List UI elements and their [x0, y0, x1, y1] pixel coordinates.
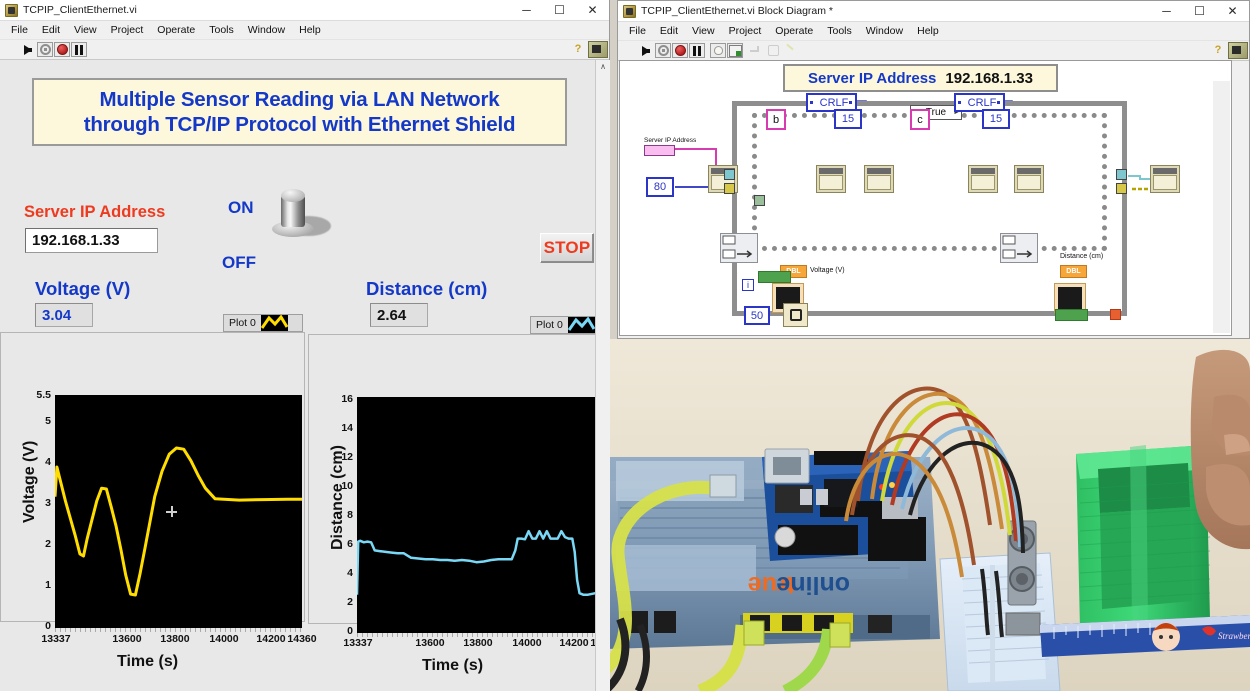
menu-help[interactable]: Help	[292, 23, 328, 37]
vi-thumbnail-icon[interactable]	[588, 41, 608, 58]
abort-execution-icon[interactable]	[672, 43, 688, 58]
distance-ytick-4: 4	[315, 567, 353, 579]
port-constant[interactable]: 80	[646, 177, 674, 197]
switch-cap	[281, 189, 305, 202]
voltage-plot-svg	[55, 395, 302, 628]
voltage-legend-plot-name: Plot 0	[224, 317, 261, 329]
front-panel-vertical-scrollbar[interactable]: ∧	[595, 60, 610, 691]
tcp-read-1-body	[867, 175, 891, 190]
server-ip-input[interactable]: 192.168.1.33	[25, 228, 158, 253]
menu-view[interactable]: View	[67, 23, 104, 37]
menu-window[interactable]: Window	[859, 24, 910, 38]
distance-value-indicator: 2.64	[370, 303, 428, 327]
step-out-icon[interactable]	[782, 43, 798, 58]
block-diagram-menubar: File Edit View Project Operate Tools Win…	[618, 22, 1249, 41]
minimize-button[interactable]: ─	[510, 0, 543, 20]
string-constant-b[interactable]: b	[766, 109, 786, 130]
scan-glyph-distance	[1001, 234, 1037, 262]
vi-thumbnail-icon[interactable]	[1228, 42, 1248, 59]
block-diagram-title: TCPIP_ClientEthernet.vi Block Diagram *	[641, 5, 833, 17]
tcp-read-1-header	[867, 168, 891, 174]
tcp-write-node-2[interactable]	[968, 165, 998, 193]
distance-ytick-14: 14	[315, 422, 353, 434]
highlight-execution-icon[interactable]	[710, 43, 726, 58]
menu-file[interactable]: File	[622, 24, 653, 38]
menu-tools[interactable]: Tools	[820, 24, 859, 38]
menu-help[interactable]: Help	[910, 24, 946, 38]
abort-execution-icon[interactable]	[54, 42, 70, 57]
green-3d-printed-box	[1076, 445, 1210, 629]
distance-chart-frame: Distance (cm) 16 14 12 10 8 6 4 2 0 1333…	[308, 334, 608, 624]
server-ip-label: Server IP Address	[24, 203, 165, 222]
retain-wire-values-icon[interactable]	[727, 43, 743, 58]
voltage-ytick-5.5: 5.5	[9, 389, 51, 401]
voltage-y-axis-title: Voltage (V)	[21, 441, 39, 523]
distance-plot-svg	[357, 397, 605, 633]
front-panel-window: TCPIP_ClientEthernet.vi ─ ☐ ✕ File Edit …	[0, 0, 610, 691]
minimize-button[interactable]: ─	[1150, 1, 1183, 21]
maximize-button[interactable]: ☐	[543, 0, 576, 20]
run-continuously-icon[interactable]	[37, 42, 53, 57]
front-panel-titlebar: TCPIP_ClientEthernet.vi ─ ☐ ✕	[0, 0, 609, 21]
distance-chart-glyph	[1058, 287, 1082, 309]
scroll-up-arrow-icon[interactable]: ∧	[596, 60, 610, 73]
help-icon[interactable]: ?	[1211, 43, 1225, 58]
voltage-chart-legend[interactable]: Plot 0	[223, 314, 303, 332]
step-over-icon[interactable]	[765, 43, 781, 58]
tcp-write-node-1[interactable]	[816, 165, 846, 193]
tcp-read-node-2[interactable]	[1014, 165, 1044, 193]
distance-xtick-13337: 13337	[325, 637, 391, 649]
stop-boolean-terminal[interactable]	[1055, 309, 1088, 321]
distance-ytick-6: 6	[315, 538, 353, 550]
application-banner: Multiple Sensor Reading via LAN Network …	[32, 78, 567, 146]
banner-line-1: Multiple Sensor Reading via LAN Network	[100, 87, 500, 112]
tunnel-case-bool[interactable]	[754, 195, 765, 206]
voltage-chart-cursor[interactable]	[166, 506, 177, 517]
voltage-value-indicator: 3.04	[35, 303, 93, 327]
maximize-button[interactable]: ☐	[1183, 1, 1216, 21]
distance-legend-plot-name: Plot 0	[531, 319, 568, 331]
front-panel-title: TCPIP_ClientEthernet.vi	[23, 4, 137, 16]
scan-glyph-voltage	[721, 234, 757, 262]
front-panel-window-controls: ─ ☐ ✕	[510, 0, 609, 20]
distance-legend-swatch[interactable]	[568, 317, 595, 333]
banner-line-2: through TCP/IP Protocol with Ethernet Sh…	[84, 112, 516, 137]
menu-file[interactable]: File	[4, 23, 35, 37]
crlf-bullet-icon-1	[810, 101, 813, 104]
voltage-ytick-1: 1	[9, 579, 51, 591]
voltage-ytick-0: 0	[9, 620, 51, 632]
photo-illustration: true online	[610, 339, 1250, 691]
svg-text:Strawberry: Strawberry	[1218, 631, 1250, 641]
distance-ytick-8: 8	[315, 509, 353, 521]
tcp-read-node-1[interactable]	[864, 165, 894, 193]
tcp-write-1-body	[819, 175, 843, 190]
voltage-chart-frame: Voltage (V) 5.5 5 4 3 2 1 0 13337 13600 …	[0, 332, 305, 622]
pause-icon[interactable]	[689, 43, 705, 58]
tunnel-refnum-out[interactable]	[1116, 169, 1127, 180]
svg-text:online: online	[776, 571, 850, 599]
pause-icon[interactable]	[71, 42, 87, 57]
loop-stop-terminal[interactable]	[1110, 309, 1121, 320]
timeout-constant-2[interactable]: 15	[982, 109, 1010, 129]
iteration-terminal[interactable]: i	[742, 279, 754, 291]
tcp-write-1-header	[819, 168, 843, 174]
voltage-ytick-3: 3	[9, 497, 51, 509]
tcp-write-2-body	[971, 175, 995, 190]
error-string-indicator[interactable]	[758, 271, 791, 283]
distance-x-axis-title: Time (s)	[422, 657, 483, 675]
menu-operate[interactable]: Operate	[150, 23, 202, 37]
run-icon[interactable]	[20, 42, 36, 57]
block-diagram-titlebar: TCPIP_ClientEthernet.vi Block Diagram * …	[618, 1, 1249, 22]
menu-window[interactable]: Window	[241, 23, 292, 37]
menu-tools[interactable]: Tools	[202, 23, 241, 37]
scan-from-string-node-voltage[interactable]	[720, 233, 758, 263]
labview-vi-icon	[5, 4, 18, 17]
help-icon[interactable]: ?	[571, 42, 585, 57]
server-ip-node-label: Server IP Address	[644, 137, 696, 144]
tcp-close-header	[1153, 168, 1177, 174]
wait-constant[interactable]: 50	[744, 306, 770, 325]
block-diagram-toolbar: ?	[618, 41, 1249, 61]
server-ip-control-terminal[interactable]	[644, 145, 675, 156]
stop-button[interactable]: STOP	[540, 233, 594, 263]
block-diagram-window-controls: ─ ☐ ✕	[1150, 1, 1249, 21]
distance-ytick-0: 0	[315, 625, 353, 637]
front-panel-canvas: Multiple Sensor Reading via LAN Network …	[0, 60, 610, 691]
on-off-toggle-switch[interactable]	[268, 189, 330, 251]
clock-icon	[790, 309, 802, 321]
menu-edit[interactable]: Edit	[35, 23, 67, 37]
front-panel-menubar: File Edit View Project Operate Tools Win…	[0, 21, 609, 40]
menu-edit[interactable]: Edit	[653, 24, 685, 38]
menu-operate[interactable]: Operate	[768, 24, 820, 38]
voltage-chart-title: Voltage (V)	[35, 278, 130, 300]
voltage-node-label: Voltage (V)	[810, 267, 845, 274]
crlf-constant-1-text: CRLF	[820, 97, 849, 109]
distance-ytick-2: 2	[315, 596, 353, 608]
tunnel-refnum-in[interactable]	[724, 169, 735, 180]
distance-chart-title: Distance (cm)	[366, 278, 487, 300]
voltage-ytick-4: 4	[9, 456, 51, 468]
voltage-x-axis-ticks	[55, 628, 302, 632]
voltage-ytick-2: 2	[9, 538, 51, 550]
distance-ytick-12: 12	[315, 451, 353, 463]
step-into-icon[interactable]	[748, 43, 764, 58]
close-button[interactable]: ✕	[1216, 1, 1249, 21]
voltage-x-axis-title: Time (s)	[117, 653, 178, 671]
distance-dbl-terminal[interactable]: DBL	[1060, 265, 1087, 278]
crlf-bullet-icon-2	[958, 101, 961, 104]
timeout-constant-1[interactable]: 15	[834, 109, 862, 129]
voltage-ytick-5: 5	[9, 415, 51, 427]
distance-ytick-16: 16	[315, 393, 353, 405]
distance-plot-area[interactable]	[357, 397, 605, 633]
run-icon[interactable]	[638, 43, 654, 58]
tcp-read-2-header	[1017, 168, 1041, 174]
voltage-legend-swatch[interactable]	[261, 315, 288, 331]
switch-on-label: ON	[228, 198, 254, 218]
switch-off-label: OFF	[222, 253, 256, 273]
tunnel-error-in[interactable]	[724, 183, 735, 194]
menu-view[interactable]: View	[685, 24, 722, 38]
menu-project[interactable]: Project	[722, 24, 769, 38]
voltage-xtick-13337: 13337	[23, 633, 89, 645]
labview-vi-icon	[623, 5, 636, 18]
hardware-setup-photo: true online	[610, 339, 1250, 691]
crlf-bullet-icon-2b	[997, 101, 1000, 104]
string-constant-c[interactable]: c	[910, 109, 930, 130]
voltage-plot-area[interactable]	[55, 395, 302, 628]
tcp-read-2-body	[1017, 175, 1041, 190]
tcp-close-connection-node[interactable]	[1150, 165, 1180, 193]
block-diagram-canvas[interactable]: Server IP Address 192.168.1.33	[619, 60, 1232, 336]
block-diagram-scrollbar[interactable]	[1213, 81, 1230, 333]
crlf-bullet-icon-1b	[849, 101, 852, 104]
wait-ms-timer-node[interactable]	[783, 303, 808, 327]
tunnel-error-out[interactable]	[1116, 183, 1127, 194]
run-continuously-icon[interactable]	[655, 43, 671, 58]
block-diagram-window: TCPIP_ClientEthernet.vi Block Diagram * …	[617, 0, 1250, 339]
close-button[interactable]: ✕	[576, 0, 609, 20]
case-structure[interactable]	[752, 113, 1107, 251]
crlf-constant-2-text: CRLF	[968, 97, 997, 109]
front-panel-toolbar: ?	[0, 40, 609, 60]
distance-ytick-10: 10	[315, 480, 353, 492]
distance-node-label: Distance (cm)	[1060, 253, 1103, 260]
scan-from-string-node-distance[interactable]	[1000, 233, 1038, 263]
tcp-write-2-header	[971, 168, 995, 174]
menu-project[interactable]: Project	[104, 23, 151, 37]
tcp-close-body	[1153, 175, 1177, 190]
